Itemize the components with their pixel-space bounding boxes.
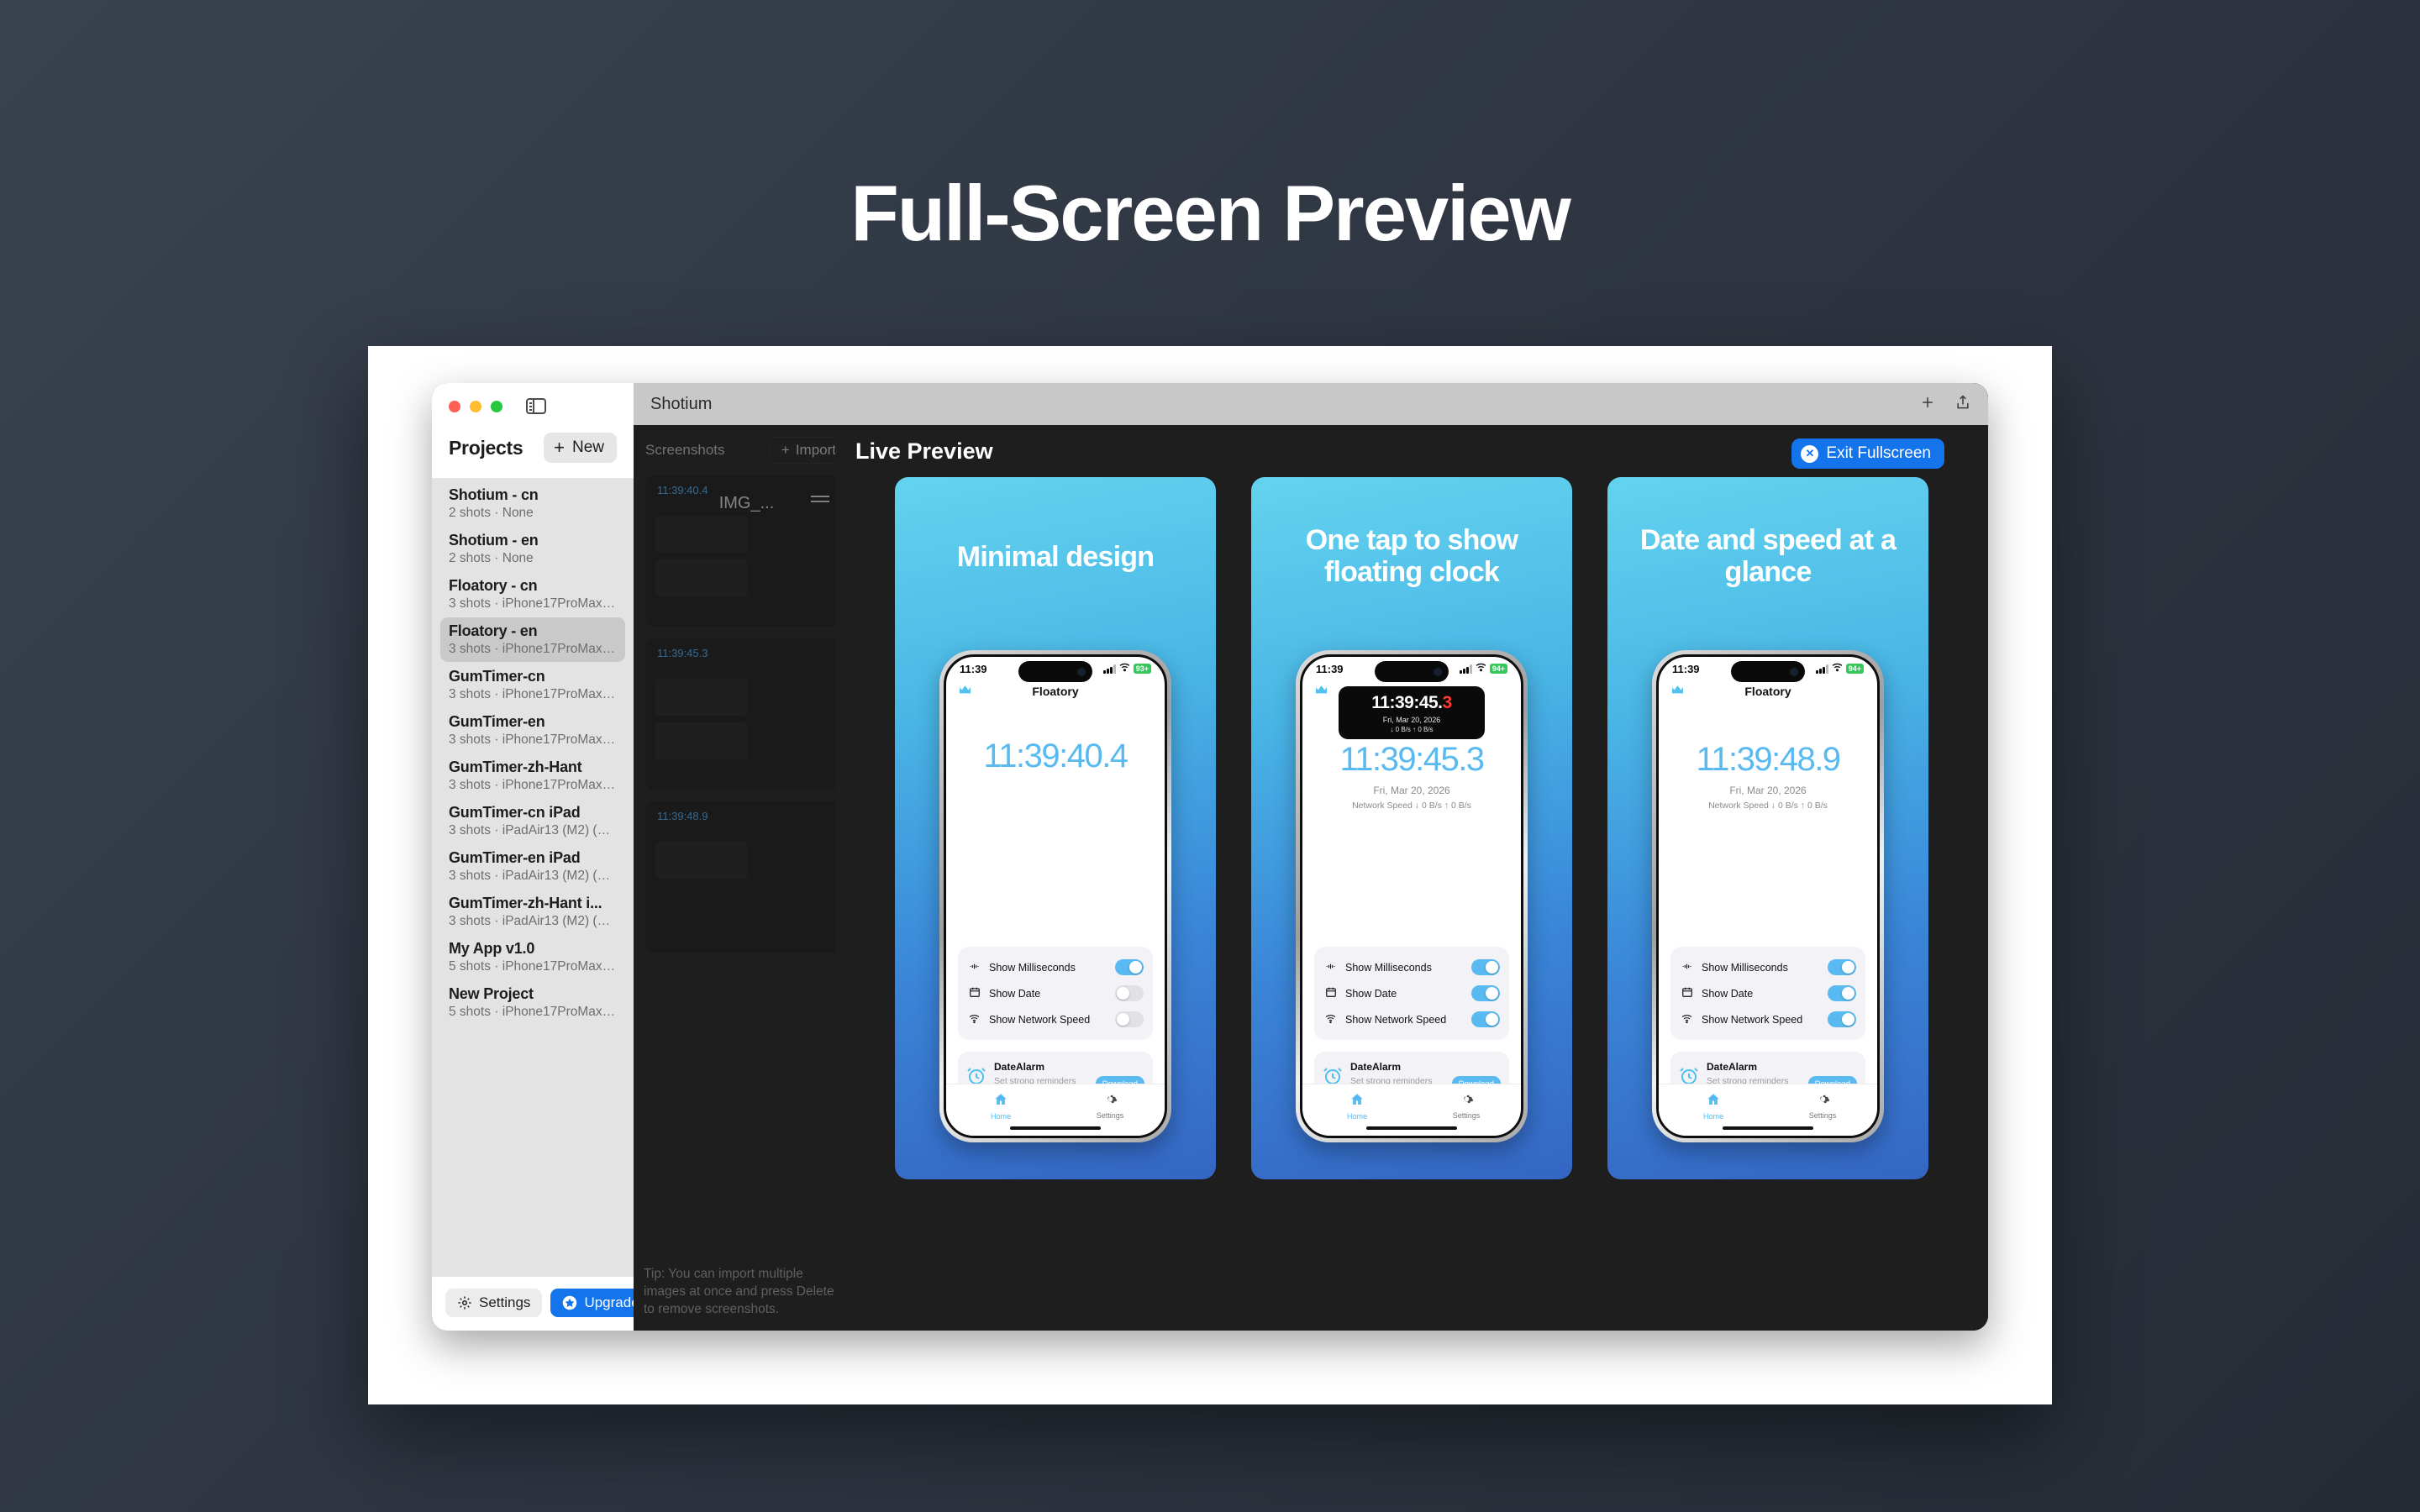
option-row[interactable]: Show Milliseconds — [967, 954, 1144, 980]
screenshot-thumbnail[interactable]: 11:39:48.9 — [645, 801, 848, 953]
project-name: GumTimer-cn — [449, 668, 617, 685]
sidebar-toggle-icon[interactable] — [526, 398, 546, 414]
project-list-item[interactable]: GumTimer-cn3 shots · iPhone17ProMax (Si.… — [440, 663, 625, 707]
project-meta: 3 shots · iPadAir13 (M2) (Blue) — [449, 823, 617, 838]
tab-label: Home — [1659, 1112, 1768, 1121]
project-meta: 2 shots · None — [449, 506, 617, 521]
thumb-detail — [655, 516, 748, 553]
status-time: 11:39 — [1316, 663, 1344, 675]
project-list-item[interactable]: Floatory - en3 shots · iPhone17ProMax (S… — [440, 617, 625, 662]
thumbnail-time: 11:39:45.3 — [657, 647, 708, 659]
projects-title: Projects — [449, 437, 523, 459]
project-list-item[interactable]: GumTimer-en3 shots · iPhone17ProMax (Si.… — [440, 708, 625, 753]
wifi-icon — [1476, 661, 1486, 676]
titlebar-actions[interactable] — [1919, 394, 1971, 415]
project-name: GumTimer-en iPad — [449, 849, 617, 867]
option-row[interactable]: Show Network Speed — [967, 1006, 1144, 1032]
gear-icon — [1768, 1092, 1877, 1109]
project-meta: 3 shots · iPhone17ProMax (Si... — [449, 596, 617, 612]
dynamic-island — [1731, 661, 1805, 682]
tab-label: Settings — [1412, 1111, 1521, 1120]
close-window-button[interactable] — [449, 401, 460, 412]
app-title: Shotium — [650, 395, 712, 414]
options-card: Show MillisecondsShow DateShow Network S… — [1314, 947, 1509, 1040]
project-name: GumTimer-zh-Hant i... — [449, 895, 617, 912]
preview-card[interactable]: Date and speed at a glance11:3994+Floato… — [1607, 477, 1928, 1179]
front-camera-icon — [1077, 668, 1086, 676]
main-clock: 11:39:40.4 — [946, 738, 1165, 775]
option-label: Show Date — [1702, 988, 1820, 1000]
status-indicators: 94+ — [1816, 661, 1864, 676]
pip-time: 11:39:45.3 — [1344, 693, 1480, 713]
card-headline: One tap to show floating clock — [1273, 524, 1550, 588]
project-list-item[interactable]: GumTimer-en iPad3 shots · iPadAir13 (M2)… — [440, 844, 625, 889]
wifi-icon — [1832, 661, 1843, 676]
minimize-window-button[interactable] — [470, 401, 481, 412]
promo-title: DateAlarm — [1350, 1061, 1401, 1073]
home-indicator — [1010, 1126, 1101, 1130]
clock-date: Fri, Mar 20, 2026 — [1302, 785, 1521, 796]
app-name: Floatory — [946, 680, 1165, 702]
page-title: Full-Screen Preview — [0, 168, 2420, 259]
exit-fullscreen-label: Exit Fullscreen — [1826, 444, 1931, 463]
project-name: GumTimer-en — [449, 713, 617, 731]
card-headline: Date and speed at a glance — [1629, 524, 1907, 588]
project-list-item[interactable]: GumTimer-cn iPad3 shots · iPadAir13 (M2)… — [440, 799, 625, 843]
project-name: New Project — [449, 985, 617, 1003]
promo-title: DateAlarm — [994, 1061, 1044, 1073]
waveform-icon — [1680, 961, 1694, 974]
network-speed: Network Speed ↓ 0 B/s ↑ 0 B/s — [1659, 801, 1877, 811]
sidebar-footer: Settings Upgrade — [432, 1277, 634, 1331]
project-meta: 3 shots · iPhone17ProMax (Si... — [449, 687, 617, 702]
window-controls[interactable] — [449, 398, 617, 414]
settings-label: Settings — [479, 1294, 530, 1311]
option-label: Show Milliseconds — [1702, 962, 1820, 974]
clock-date: Fri, Mar 20, 2026 — [1659, 785, 1877, 796]
project-meta: 5 shots · iPhone17ProMax (Si... — [449, 1005, 617, 1020]
options-card: Show MillisecondsShow DateShow Network S… — [958, 947, 1153, 1040]
project-list-item[interactable]: GumTimer-zh-Hant i...3 shots · iPadAir13… — [440, 890, 625, 934]
phone-screen: 11:3994+11:39:45.3Fri, Mar 20, 2026↓ 0 B… — [1300, 654, 1523, 1138]
cellular-icon — [1816, 664, 1828, 674]
project-name: Floatory - en — [449, 622, 617, 640]
project-list-item[interactable]: My App v1.05 shots · iPhone17ProMax (Si.… — [440, 935, 625, 979]
tab-label: Settings — [1055, 1111, 1165, 1120]
project-meta: 2 shots · None — [449, 551, 617, 566]
project-meta: 5 shots · iPhone17ProMax (Si... — [449, 959, 617, 974]
option-toggle[interactable] — [1471, 959, 1500, 975]
gear-icon — [1055, 1092, 1165, 1109]
option-label: Show Network Speed — [1345, 1014, 1464, 1026]
project-name: GumTimer-cn iPad — [449, 804, 617, 822]
project-name: Shotium - en — [449, 532, 617, 549]
project-list-item[interactable]: Shotium - en2 shots · None — [440, 527, 625, 571]
thumbnail-time: 11:39:48.9 — [657, 810, 708, 822]
status-bar: 11:3994+ — [1659, 657, 1877, 680]
project-name: GumTimer-zh-Hant — [449, 759, 617, 776]
phone-mockup: 11:3994+Floatory11:39:48.9Fri, Mar 20, 2… — [1652, 650, 1884, 1142]
new-project-label: New — [572, 438, 604, 457]
pip-date: Fri, Mar 20, 2026 — [1344, 716, 1480, 724]
project-meta: 3 shots · iPhone17ProMax (Si... — [449, 642, 617, 657]
upgrade-label: Upgrade — [584, 1294, 639, 1311]
calendar-icon — [1323, 986, 1338, 1000]
project-name: Shotium - cn — [449, 486, 617, 504]
home-icon — [1659, 1092, 1768, 1110]
new-project-button[interactable]: + New — [544, 433, 617, 463]
promo-title: DateAlarm — [1707, 1061, 1757, 1073]
option-row[interactable]: Show Milliseconds — [1323, 954, 1500, 980]
option-row[interactable]: Show Network Speed — [1680, 1006, 1856, 1032]
thumb-detail — [655, 559, 748, 596]
cellular-icon — [1460, 664, 1472, 674]
status-time: 11:39 — [1672, 663, 1700, 675]
plus-icon[interactable] — [1919, 394, 1936, 415]
network-speed: Network Speed ↓ 0 B/s ↑ 0 B/s — [1302, 801, 1521, 811]
option-row[interactable]: Show Milliseconds — [1680, 954, 1856, 980]
project-list[interactable]: Shotium - cn2 shots · NoneShotium - en2 … — [432, 478, 634, 1277]
project-name: My App v1.0 — [449, 940, 617, 958]
import-label: Import — [796, 442, 836, 459]
front-camera-icon — [1790, 668, 1798, 676]
front-camera-icon — [1434, 668, 1442, 676]
waveform-icon — [967, 961, 981, 974]
sidebar: Projects + New Shotium - cn2 shots · Non… — [432, 383, 634, 1331]
crown-icon[interactable] — [1314, 684, 1328, 698]
settings-button[interactable]: Settings — [445, 1289, 542, 1317]
close-circle-icon: ✕ — [1801, 445, 1818, 463]
project-meta: 3 shots · iPadAir13 (M2) (Blue) — [449, 914, 617, 929]
option-toggle[interactable] — [1828, 959, 1856, 975]
calendar-icon — [1680, 986, 1694, 1000]
wifi-icon — [1323, 1013, 1338, 1026]
thumb-detail — [655, 722, 748, 759]
sidebar-header: Projects + New — [432, 383, 634, 478]
crown-icon[interactable] — [1670, 684, 1685, 698]
screenshot-thumbnail[interactable]: 11:39:45.3 — [645, 638, 848, 790]
app-header: Floatory — [946, 680, 1165, 702]
home-indicator — [1723, 1126, 1813, 1130]
tab-label: Home — [1302, 1112, 1412, 1121]
projects-header: Projects + New — [449, 414, 617, 478]
battery-icon: 93+ — [1134, 664, 1151, 674]
gear-icon — [1412, 1092, 1521, 1109]
screenshots-header: Screenshots + Import — [645, 437, 848, 464]
thumb-detail — [655, 679, 748, 716]
preview-card[interactable]: Minimal design11:3993+Floatory11:39:40.4… — [895, 477, 1216, 1179]
screenshots-panel: Screenshots + Import 11:39:40.4 IMG_... — [634, 425, 860, 1331]
project-list-item[interactable]: Shotium - cn2 shots · None — [440, 481, 625, 526]
option-row[interactable]: Show Date — [1680, 980, 1856, 1006]
option-toggle[interactable] — [1115, 985, 1144, 1001]
option-row[interactable]: Show Date — [967, 980, 1144, 1006]
option-toggle[interactable] — [1115, 959, 1144, 975]
option-label: Show Network Speed — [1702, 1014, 1820, 1026]
status-bar: 11:3994+ — [1302, 657, 1521, 680]
battery-icon: 94+ — [1846, 664, 1864, 674]
main-clock: 11:39:48.9 — [1659, 741, 1877, 779]
exit-fullscreen-button[interactable]: ✕ Exit Fullscreen — [1791, 438, 1944, 469]
pip-network: ↓ 0 B/s ↑ 0 B/s — [1344, 726, 1480, 733]
plus-icon: + — [554, 438, 565, 457]
thumb-detail — [655, 842, 748, 879]
phone-screen: 11:3993+Floatory11:39:40.4Show Milliseco… — [944, 654, 1167, 1138]
project-meta: 3 shots · iPadAir13 (M2) (Blue) — [449, 869, 617, 884]
option-label: Show Network Speed — [989, 1014, 1107, 1026]
project-name: Floatory - cn — [449, 577, 617, 595]
option-toggle[interactable] — [1115, 1011, 1144, 1027]
home-icon — [1302, 1092, 1412, 1110]
share-icon[interactable] — [1954, 394, 1971, 415]
preview-card[interactable]: One tap to show floating clock11:3994+11… — [1251, 477, 1572, 1179]
preview-cards: Minimal design11:3993+Floatory11:39:40.4… — [835, 477, 1988, 1179]
options-card: Show MillisecondsShow DateShow Network S… — [1670, 947, 1865, 1040]
project-list-item[interactable]: GumTimer-zh-Hant3 shots · iPhone17ProMax… — [440, 753, 625, 798]
star-badge-icon — [562, 1295, 577, 1310]
screenshot-thumbnail[interactable]: 11:39:40.4 IMG_... — [645, 475, 848, 627]
battery-icon: 94+ — [1490, 664, 1507, 674]
option-label: Show Milliseconds — [1345, 962, 1464, 974]
main-clock: 11:39:45.3 — [1302, 741, 1521, 779]
option-row[interactable]: Show Date — [1323, 980, 1500, 1006]
zoom-window-button[interactable] — [491, 401, 502, 412]
waveform-icon — [1323, 961, 1338, 974]
gear-icon — [457, 1295, 472, 1310]
status-indicators: 94+ — [1460, 661, 1507, 676]
app-window: Projects + New Shotium - cn2 shots · Non… — [432, 383, 1988, 1331]
option-toggle[interactable] — [1828, 1011, 1856, 1027]
home-indicator — [1366, 1126, 1457, 1130]
status-indicators: 93+ — [1103, 661, 1151, 676]
tip-text: Tip: You can import multiple images at o… — [644, 1266, 837, 1319]
phone-mockup: 11:3994+11:39:45.3Fri, Mar 20, 2026↓ 0 B… — [1296, 650, 1528, 1142]
project-meta: 3 shots · iPhone17ProMax (Si... — [449, 778, 617, 793]
option-toggle[interactable] — [1471, 1011, 1500, 1027]
option-label: Show Date — [1345, 988, 1464, 1000]
app-header: Floatory — [1659, 680, 1877, 702]
project-list-item[interactable]: Floatory - cn3 shots · iPhone17ProMax (S… — [440, 572, 625, 617]
plus-icon: + — [781, 442, 790, 459]
phone-mockup: 11:3993+Floatory11:39:40.4Show Milliseco… — [939, 650, 1171, 1142]
option-toggle[interactable] — [1828, 985, 1856, 1001]
phone-screen: 11:3994+Floatory11:39:48.9Fri, Mar 20, 2… — [1656, 654, 1880, 1138]
fullscreen-preview-overlay: Live Preview ✕ Exit Fullscreen Minimal d… — [835, 425, 1988, 1331]
app-name: Floatory — [1659, 680, 1877, 702]
home-icon — [946, 1092, 1055, 1110]
tab-label: Home — [946, 1112, 1055, 1121]
wifi-icon — [967, 1013, 981, 1026]
pip-overlay[interactable]: 11:39:45.3Fri, Mar 20, 2026↓ 0 B/s ↑ 0 B… — [1339, 686, 1485, 739]
project-list-item[interactable]: New Project5 shots · iPhone17ProMax (Si.… — [440, 980, 625, 1025]
calendar-icon — [967, 986, 981, 1000]
crown-icon[interactable] — [958, 684, 972, 698]
fullscreen-label: Live Preview — [855, 438, 993, 465]
screenshot-frame: Projects + New Shotium - cn2 shots · Non… — [368, 346, 2052, 1404]
titlebar: Shotium — [634, 383, 1988, 425]
cellular-icon — [1103, 664, 1116, 674]
dynamic-island — [1018, 661, 1092, 682]
dynamic-island — [1375, 661, 1449, 682]
card-headline: Minimal design — [917, 541, 1194, 573]
option-label: Show Date — [989, 988, 1107, 1000]
wifi-icon — [1119, 661, 1130, 676]
option-label: Show Milliseconds — [989, 962, 1107, 974]
tab-label: Settings — [1768, 1111, 1877, 1120]
option-toggle[interactable] — [1471, 985, 1500, 1001]
main-area: Shotium Screenshots — [634, 383, 1988, 1331]
drag-handle-icon[interactable] — [811, 496, 829, 506]
status-bar: 11:3993+ — [946, 657, 1165, 680]
project-meta: 3 shots · iPhone17ProMax (Si... — [449, 732, 617, 748]
wifi-icon — [1680, 1013, 1694, 1026]
screenshots-label: Screenshots — [645, 442, 725, 459]
option-row[interactable]: Show Network Speed — [1323, 1006, 1500, 1032]
status-time: 11:39 — [960, 663, 987, 675]
